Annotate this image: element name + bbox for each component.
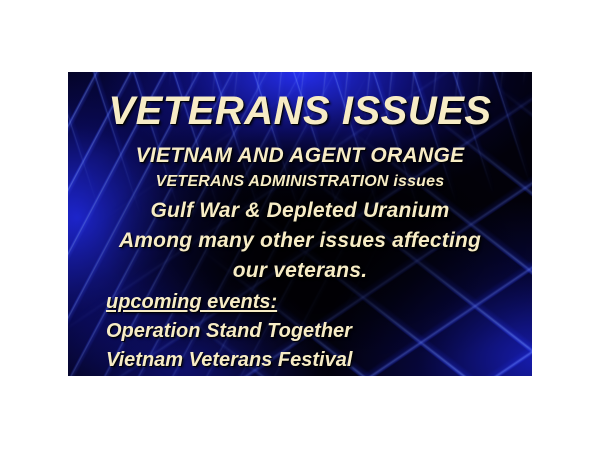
- veterans-issues-poster: VETERANS ISSUES VIETNAM AND AGENT ORANGE…: [68, 72, 532, 376]
- upcoming-events-group: upcoming events: Operation Stand Togethe…: [106, 290, 352, 372]
- poster-text-block: VETERANS ISSUES VIETNAM AND AGENT ORANGE…: [68, 72, 532, 376]
- poster-title: VETERANS ISSUES: [68, 90, 532, 132]
- image-canvas: VETERANS ISSUES VIETNAM AND AGENT ORANGE…: [0, 0, 600, 450]
- poster-subtitle-vietnam-agent-orange: VIETNAM AND AGENT ORANGE: [68, 144, 532, 168]
- event-item-vietnam-veterans-festival: Vietnam Veterans Festival: [106, 348, 352, 372]
- upcoming-events-heading: upcoming events:: [106, 290, 352, 314]
- poster-subtitle-gulf-war-depleted-uranium: Gulf War & Depleted Uranium: [68, 199, 532, 223]
- poster-subtitle-among-other-issues: Among many other issues affecting: [68, 229, 532, 253]
- poster-subtitle-our-veterans: our veterans.: [68, 259, 532, 283]
- event-item-operation-stand-together: Operation Stand Together: [106, 319, 352, 343]
- poster-subtitle-veterans-administration: VETERANS ADMINISTRATION issues: [68, 172, 532, 191]
